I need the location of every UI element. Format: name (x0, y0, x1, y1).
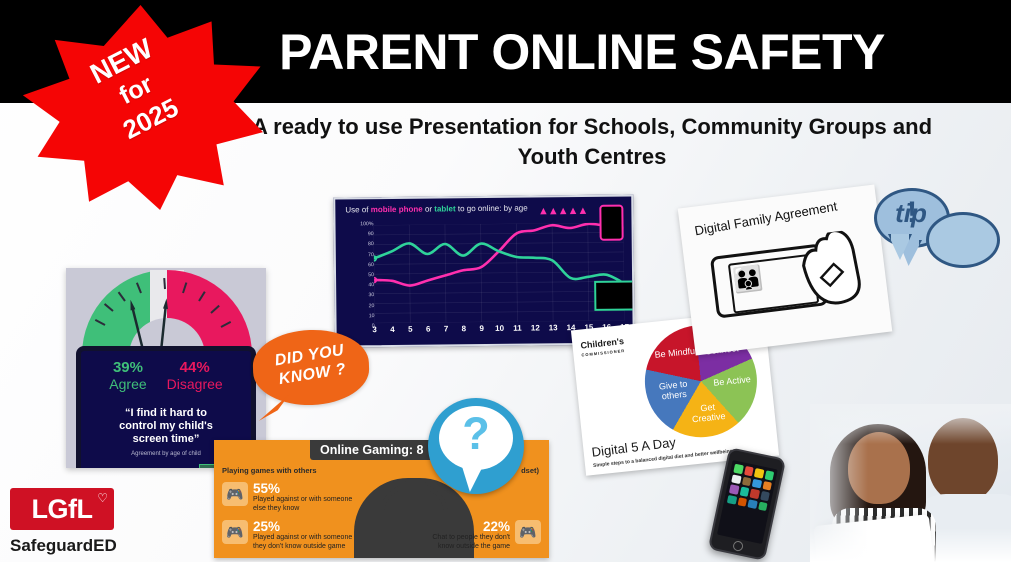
lgfl-tagline: SafeguardED (10, 536, 117, 556)
photo-fade-bottom (810, 528, 1011, 562)
gaming-stat-0-line2: else they know (253, 505, 352, 514)
chart-x-tick: 12 (531, 323, 540, 332)
gaming-stat-1-pct: 25% (253, 520, 352, 534)
app-icon (741, 476, 751, 486)
new-for-2025-badge: NEW for 2025 (18, 5, 263, 210)
app-icon (758, 501, 768, 511)
question-bubble: ? (428, 398, 524, 494)
gaming-stat-2-pct: 22% (432, 520, 510, 534)
lgfl-logo-box: LGfL ♡ (10, 488, 114, 530)
gaming-stat-0: 🎮 55% Played against or with someone els… (222, 482, 352, 513)
gaming-stat-1-line2: they don't know outside game (253, 543, 352, 552)
age-bar-chart: 34%3–432%5–737%8–1146%12–15 (91, 463, 232, 468)
pie-label-be-active: Be Active (711, 374, 754, 388)
chart-title-prefix: Use of (345, 205, 370, 214)
agree-stat: 39% Agree (109, 359, 146, 392)
lgfl-logo: LGfL ♡ SafeguardED (10, 488, 130, 558)
disagree-percent: 44% (167, 359, 223, 376)
chart-title: Use of mobile phone or tablet to go onli… (345, 204, 527, 215)
chart-x-tick: 4 (390, 325, 395, 334)
gaming-stat-0-pct: 55% (253, 482, 352, 496)
app-icon (733, 464, 743, 474)
quote-line-2: control my child's (81, 420, 251, 433)
app-icon (729, 484, 739, 494)
chart-plot-area (374, 223, 625, 324)
gaming-stat-2-line1: Chat to people they don't (432, 534, 510, 543)
gaming-stat-2: 22% Chat to people they don't know outsi… (432, 520, 541, 551)
chart-y-tick: 100% (360, 221, 373, 227)
chart-x-tick: 11 (513, 324, 522, 333)
smartphone-screen (717, 460, 778, 544)
app-icon (731, 474, 741, 484)
gamepad-headset-icon: 🎮 (222, 520, 248, 544)
tip-bubbles: ! tip (874, 188, 1000, 274)
gaming-stat-2-line2: know outside the game (432, 543, 510, 552)
age-bar-column: 32%5–7 (127, 463, 160, 468)
chart-x-tick: 7 (444, 324, 449, 333)
family-people-icon: 👪 (732, 267, 765, 294)
agree-label: Agree (109, 376, 146, 392)
app-icon (727, 494, 737, 504)
agree-disagree-row: 39% Agree 44% Disagree (81, 359, 251, 392)
screen-time-infographic: 39% Agree 44% Disagree “I find it hard t… (66, 268, 266, 468)
mobile-phone-icon (599, 205, 623, 241)
app-icon (752, 478, 762, 488)
app-icon (737, 497, 747, 507)
gaming-stat-0-line1: Played against or with someone (253, 496, 352, 505)
digital-family-agreement-card: Digital Family Agreement 👪 (678, 184, 893, 355)
did-you-know-bubble: DID YOU KNOW ? (252, 328, 371, 407)
pie-label-be-mindful: Be Mindful (653, 345, 698, 360)
family-agreement-illustration: 👪 (702, 222, 873, 341)
chart-svg (374, 223, 625, 324)
slide-canvas: PARENT ONLINE SAFETY A ready to use Pres… (0, 0, 1011, 562)
gauge-chart (82, 270, 252, 356)
app-icon (764, 470, 774, 480)
chart-x-tick: 5 (408, 325, 413, 334)
gamepad-console-icon: 🎮 (515, 520, 541, 544)
gaming-stat-1-line1: Played against or with someone (253, 534, 352, 543)
chart-x-tick: 3 (372, 325, 377, 334)
chart-title-suffix: to go online: by age (456, 204, 528, 214)
photo-fade-top (810, 404, 1011, 444)
chart-x-tick: 6 (426, 325, 431, 334)
tip-text: tip (874, 198, 948, 229)
home-button-icon (732, 540, 744, 552)
pie-label-give-to-others: Give to others (649, 378, 699, 403)
gamepad-people-icon: 🎮 (222, 482, 248, 506)
app-icon (739, 486, 749, 496)
tablet-icon (594, 280, 635, 310)
childrens-commissioner-logo: Children's COMMISSIONER (580, 337, 625, 359)
chart-x-tick: 10 (495, 324, 504, 333)
app-icon (760, 491, 770, 501)
age-bar-column: 34%3–4 (91, 463, 124, 468)
chart-legend-tablet: tablet (434, 204, 455, 213)
app-icon (754, 468, 764, 478)
gaming-left-column-header: Playing games with others (222, 466, 317, 475)
chart-y-axis: 100%9080706050403020100 (347, 221, 374, 325)
pie-label-get-creative: Get Creative (683, 400, 733, 425)
agree-percent: 39% (109, 359, 146, 376)
hand-signing-icon (794, 229, 868, 318)
chart-x-tick: 8 (462, 324, 467, 333)
page-title: PARENT ONLINE SAFETY (232, 22, 932, 82)
question-mark-icon: ? (428, 408, 524, 460)
age-bar-column: 37%8–11 (163, 463, 196, 468)
app-icon (750, 489, 760, 499)
app-icon (762, 480, 772, 490)
chart-x-tick: 13 (549, 323, 558, 332)
gaming-stat-1: 🎮 25% Played against or with someone the… (222, 520, 352, 551)
app-icon (744, 466, 754, 476)
heart-icon: ♡ (97, 491, 108, 505)
disagree-label: Disagree (167, 376, 223, 392)
chart-x-tick: 9 (479, 324, 484, 333)
mobile-tablet-usage-chart: Use of mobile phone or tablet to go onli… (333, 194, 635, 347)
family-using-tablet-photo (810, 404, 1011, 562)
app-icon (747, 499, 757, 509)
smartphone-app-grid (723, 460, 778, 515)
disagree-stat: 44% Disagree (167, 359, 223, 392)
page-subtitle: A ready to use Presentation for Schools,… (222, 112, 962, 172)
did-you-know-text: DID YOU KNOW ? (251, 337, 372, 393)
smartphone-photo (708, 447, 786, 561)
quote-line-1: “I find it hard to (81, 407, 251, 420)
chart-legend-mobile: mobile phone (371, 205, 423, 215)
people-age-icons: ▲▲▲▲▲ (538, 205, 588, 218)
chart-title-or: or (423, 205, 435, 214)
